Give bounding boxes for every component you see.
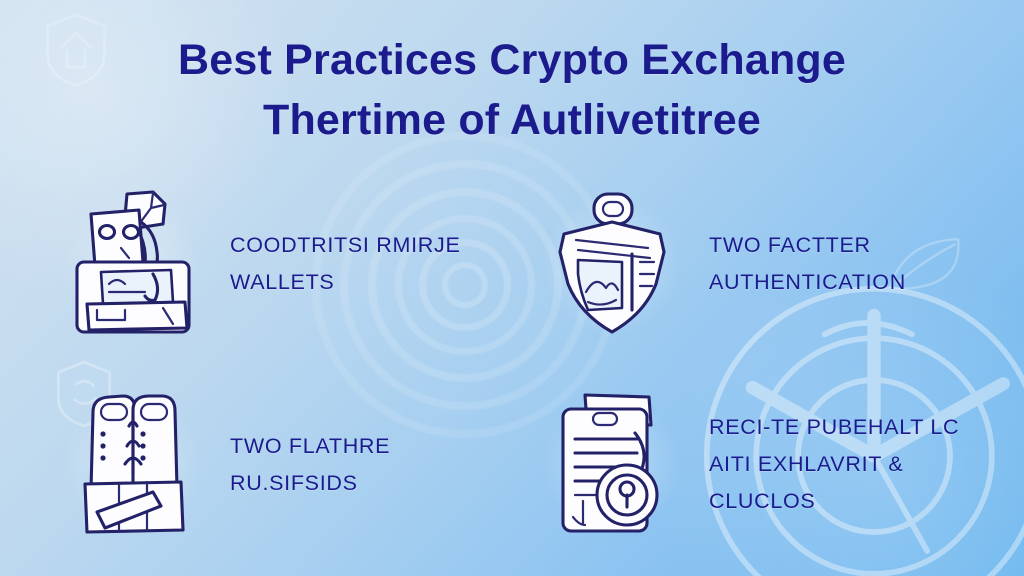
practice-item-4-label: RECI-TE PUBEHALT LC AITI EXHLAVRIT & CLU… — [709, 409, 978, 520]
practice-item-3[interactable]: TWO FLATHRE RU.SIFSIDS — [58, 369, 499, 560]
practice-item-3-label-line2: RU.SIFSIDS — [230, 465, 390, 502]
best-practices-grid: COODTRITSI RMIRJE WALLETS — [58, 168, 978, 560]
practice-item-2-label-line2: AUTHENTICATION — [709, 264, 906, 301]
practice-item-3-label: TWO FLATHRE RU.SIFSIDS — [230, 428, 390, 502]
practice-item-4-label-line1: RECI-TE PUBEHALT LC — [709, 415, 959, 439]
practice-item-4[interactable]: RECI-TE PUBEHALT LC AITI EXHLAVRIT & CLU… — [537, 369, 978, 560]
practice-item-2[interactable]: TWO FACTTER AUTHENTICATION — [537, 168, 978, 359]
practice-item-3-label-line1: TWO FLATHRE — [230, 434, 390, 458]
practice-item-1[interactable]: COODTRITSI RMIRJE WALLETS — [58, 168, 499, 359]
practice-item-2-label: TWO FACTTER AUTHENTICATION — [709, 227, 906, 301]
page-title: Best Practices Crypto Exchange Thertime … — [0, 30, 1024, 150]
clipboard-coin-audit-icon — [537, 380, 687, 550]
title-line-1: Best Practices Crypto Exchange — [0, 30, 1024, 90]
twin-pillar-lock-icon — [58, 380, 208, 550]
practice-item-2-label-line1: TWO FACTTER — [709, 233, 871, 257]
practice-item-4-label-line2: AITI EXHLAVRIT & CLUCLOS — [709, 446, 978, 520]
padlock-shield-icon — [537, 179, 687, 349]
title-line-2: Thertime of Autlivetitree — [0, 90, 1024, 150]
practice-item-1-label-line2: WALLETS — [230, 264, 460, 301]
practice-item-1-label: COODTRITSI RMIRJE WALLETS — [230, 227, 460, 301]
hardware-wallet-device-icon — [58, 179, 208, 349]
infographic-slide: Best Practices Crypto Exchange Thertime … — [0, 0, 1024, 576]
practice-item-1-label-line1: COODTRITSI RMIRJE — [230, 233, 460, 257]
